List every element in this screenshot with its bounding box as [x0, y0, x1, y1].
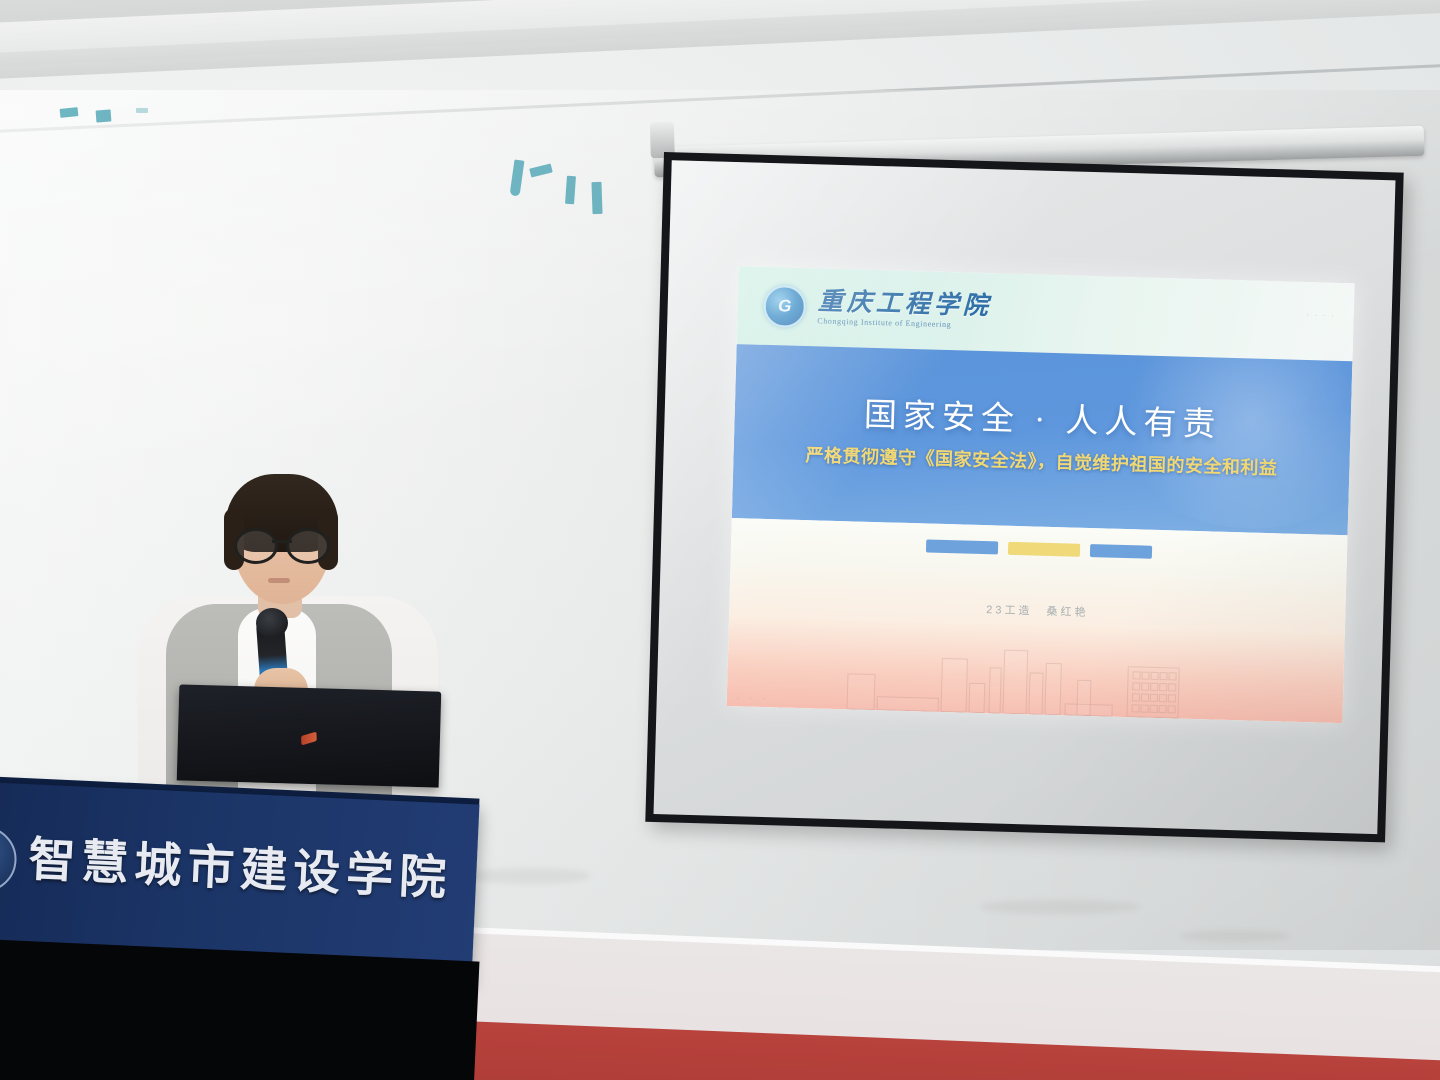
foreground-shadow: [0, 938, 479, 1080]
microphone-head: [256, 608, 288, 638]
skyline-building: [847, 673, 876, 710]
skyline-building: [1002, 650, 1028, 715]
screen-surface: G 重庆工程学院 Chongqing Institute of Engineer…: [654, 160, 1396, 834]
glasses-bridge: [272, 540, 292, 543]
skyline-building: [1028, 672, 1043, 714]
skyline-building: [876, 696, 938, 712]
skyline-window: [1159, 694, 1167, 702]
skyline-window: [1150, 694, 1158, 702]
skyline-illustration: [727, 620, 1345, 723]
projected-slide: G 重庆工程学院 Chongqing Institute of Engineer…: [727, 266, 1355, 723]
projection-screen: G 重庆工程学院 Chongqing Institute of Engineer…: [645, 152, 1416, 853]
decorative-bars: [731, 534, 1347, 564]
university-logo-icon: G: [763, 285, 806, 328]
skyline-window: [1132, 693, 1140, 701]
slide-title-band: 国家安全 · 人人有责 严格贯彻遵守《国家安全法》，自觉维护祖国的安全和利益: [732, 344, 1353, 535]
bar-yellow-middle: [1008, 542, 1080, 557]
wall-smudge: [980, 900, 1140, 914]
skyline-window: [1150, 705, 1158, 713]
institution-name-cn: 重庆工程学院: [818, 289, 993, 319]
lecture-hall-photo: G 重庆工程学院 Chongqing Institute of Engineer…: [0, 0, 1440, 1080]
skyline-building: [1076, 680, 1091, 716]
skyline-window: [1159, 672, 1167, 680]
skyline-window: [1168, 705, 1176, 713]
skyline-building: [988, 667, 1001, 713]
wall-tape-mark: [591, 182, 602, 214]
skyline-window: [1132, 671, 1140, 679]
wall-tape-mark: [565, 176, 576, 205]
skyline-window: [1168, 672, 1176, 680]
skyline-building: [1044, 663, 1061, 715]
skyline-window: [1132, 682, 1140, 690]
skyline-building: [968, 683, 985, 713]
wall-tape-mark: [96, 109, 112, 122]
skyline-window: [1150, 672, 1158, 680]
college-logo-icon: G: [0, 825, 18, 894]
skyline-window: [1168, 683, 1176, 691]
glasses-lens-left: [234, 528, 278, 564]
laptop-brand-logo: [301, 732, 317, 746]
skyline-window: [1159, 683, 1167, 691]
wall-smudge: [470, 868, 590, 884]
screen-frame: G 重庆工程学院 Chongqing Institute of Engineer…: [645, 152, 1403, 842]
slide-header-meta: · · · ·: [1306, 312, 1335, 320]
wall-tape-mark: [136, 108, 148, 113]
slide-footer-faint: · · ·: [737, 693, 770, 703]
wall-smudge: [1180, 930, 1290, 942]
laptop: [177, 684, 442, 787]
presenter-glasses: [234, 528, 330, 558]
skyline-window: [1141, 683, 1149, 691]
glasses-lens-right: [286, 528, 330, 564]
bar-blue-right: [1090, 544, 1152, 559]
university-logo-text: 重庆工程学院 Chongqing Institute of Engineerin…: [817, 289, 992, 330]
wall-tape-mark: [60, 107, 79, 118]
bar-blue-left: [926, 539, 998, 554]
skyline-window: [1141, 672, 1149, 680]
skyline-window-grid: [1126, 666, 1179, 718]
skyline-window: [1159, 705, 1167, 713]
presenter-mouth: [268, 578, 290, 583]
podium-banner-text: 智慧城市建设学院: [27, 820, 454, 908]
skyline-window: [1141, 694, 1149, 702]
skyline-window: [1132, 704, 1140, 712]
slide-lower-section: 23工造 桑红艳: [727, 518, 1348, 723]
skyline-building: [940, 658, 967, 713]
skyline-window: [1168, 694, 1176, 702]
skyline-window: [1150, 683, 1158, 691]
skyline-window: [1141, 705, 1149, 713]
